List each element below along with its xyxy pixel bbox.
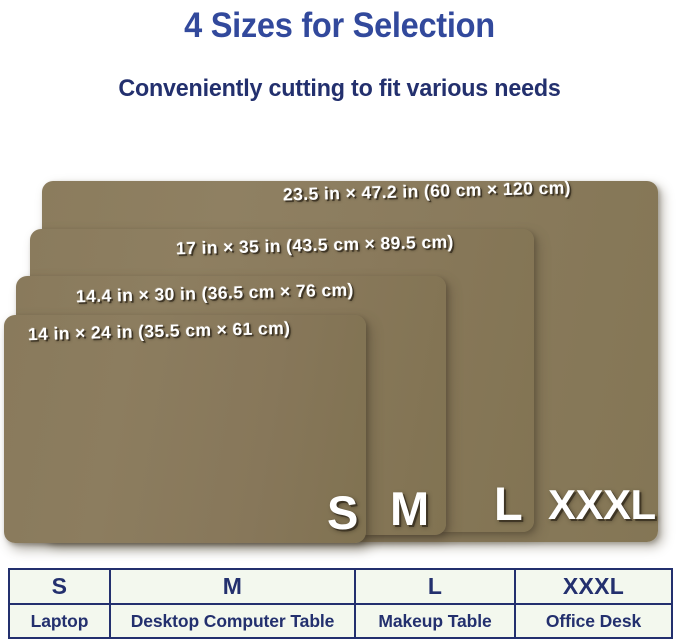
table-cell-size-m: M bbox=[110, 569, 355, 604]
size-letter-s: S bbox=[327, 489, 358, 536]
size-letter-xxxl: XXXL bbox=[548, 484, 656, 526]
table-cell-use-l: Makeup Table bbox=[355, 604, 515, 638]
table-cell-size-l: L bbox=[355, 569, 515, 604]
table-cell-use-s: Laptop bbox=[9, 604, 110, 638]
size-letter-m: M bbox=[390, 485, 429, 532]
size-use-case-table: S M L XXXL Laptop Desktop Computer Table… bbox=[8, 568, 673, 639]
size-letter-l: L bbox=[494, 480, 523, 527]
table-cell-size-xxxl: XXXL bbox=[515, 569, 672, 604]
mat-s bbox=[4, 315, 366, 543]
table-row-size-codes: S M L XXXL bbox=[9, 569, 672, 604]
table-cell-use-xxxl: Office Desk bbox=[515, 604, 672, 638]
table-row-use-cases: Laptop Desktop Computer Table Makeup Tab… bbox=[9, 604, 672, 638]
table-cell-size-s: S bbox=[9, 569, 110, 604]
table-cell-use-m: Desktop Computer Table bbox=[110, 604, 355, 638]
desk-mat-size-illustration: 23.5 in × 47.2 in (60 cm × 120 cm) 17 in… bbox=[0, 0, 679, 560]
